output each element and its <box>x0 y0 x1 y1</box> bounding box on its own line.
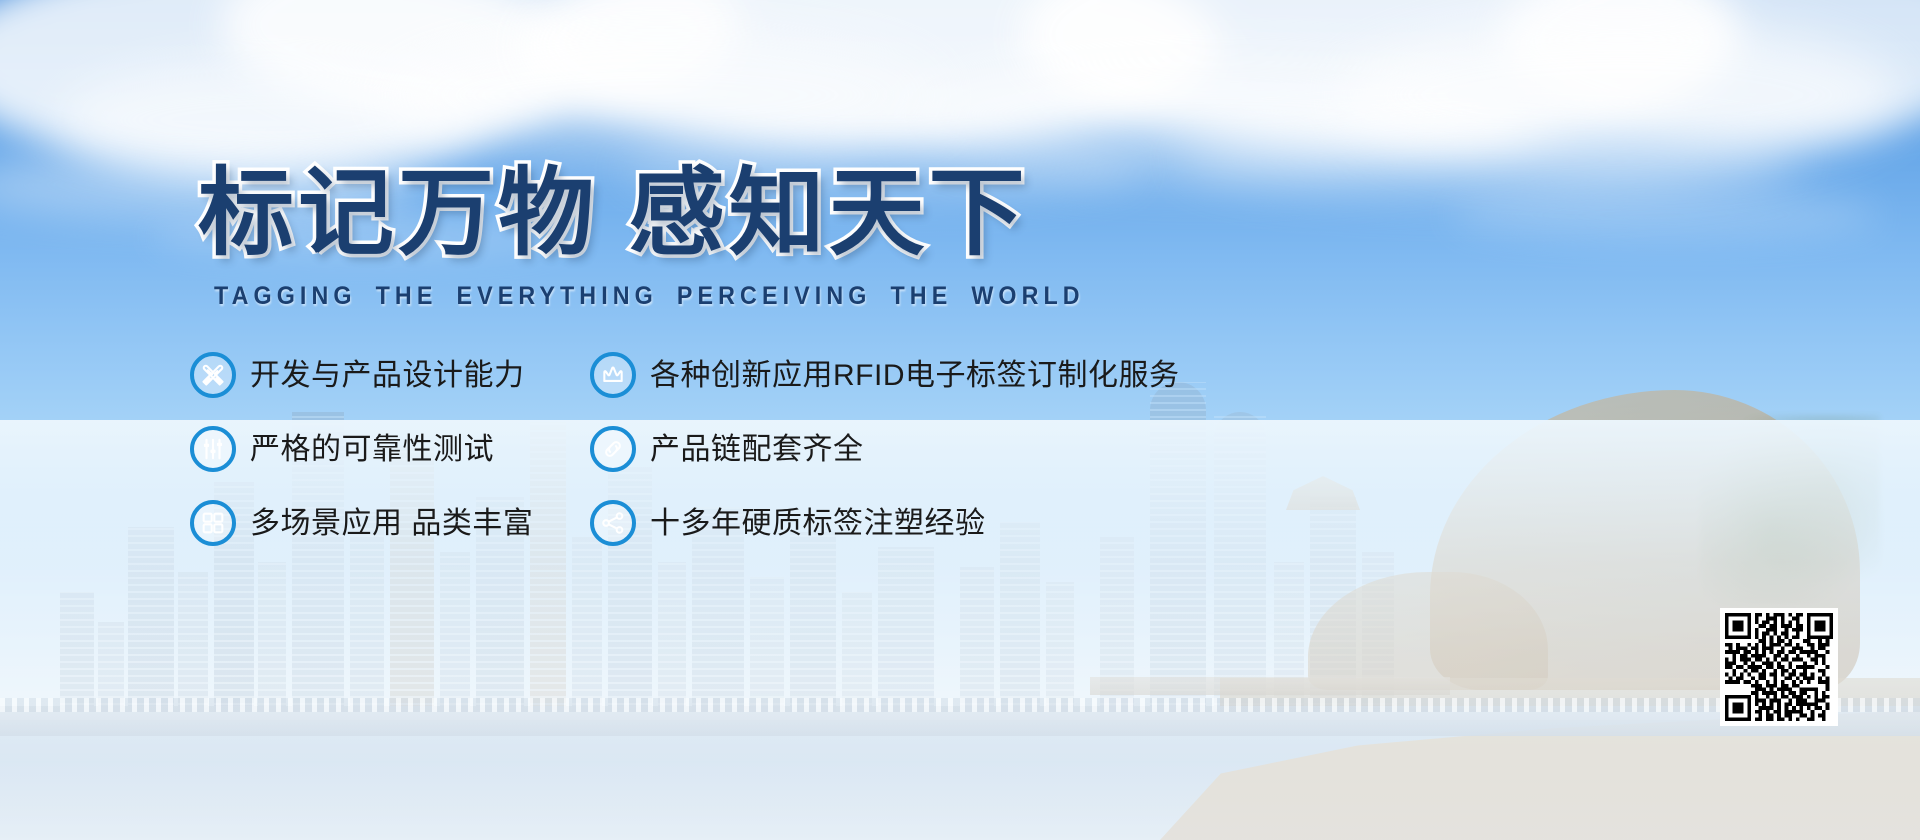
page-title: 标记万物 感知天下 <box>198 166 1029 262</box>
crown-icon <box>590 352 636 398</box>
feature-row: 开发与产品设计能力 各种创新应用RFID电子标签订制化服务 <box>190 352 1290 398</box>
banner-content: 标记万物 感知天下 TAGGING THE EVERYTHING PERCEIV… <box>0 0 1920 840</box>
qr-code[interactable] <box>1720 608 1838 726</box>
feature-item-rfid-service: 各种创新应用RFID电子标签订制化服务 <box>590 352 1290 398</box>
feature-list: 开发与产品设计能力 各种创新应用RFID电子标签订制化服务 <box>190 352 1290 574</box>
feature-row: 严格的可靠性测试 产品链配套齐全 <box>190 426 1290 472</box>
link-chain-icon <box>590 426 636 472</box>
feature-label: 各种创新应用RFID电子标签订制化服务 <box>650 359 1180 392</box>
grid-squares-icon <box>190 500 236 546</box>
feature-item-product-chain: 产品链配套齐全 <box>590 426 1290 472</box>
page-subtitle: TAGGING THE EVERYTHING PERCEIVING THE WO… <box>214 282 1085 311</box>
feature-item-design: 开发与产品设计能力 <box>190 352 590 398</box>
feature-item-scenarios: 多场景应用 品类丰富 <box>190 500 590 546</box>
feature-label: 产品链配套齐全 <box>650 433 864 466</box>
feature-row: 多场景应用 品类丰富 十多年硬质标签注塑经验 <box>190 500 1290 546</box>
feature-item-experience: 十多年硬质标签注塑经验 <box>590 500 1290 546</box>
promo-banner: 标记万物 感知天下 TAGGING THE EVERYTHING PERCEIV… <box>0 0 1920 840</box>
feature-label: 十多年硬质标签注塑经验 <box>650 507 986 540</box>
sliders-icon <box>190 426 236 472</box>
share-nodes-icon <box>590 500 636 546</box>
pencil-ruler-icon <box>190 352 236 398</box>
feature-label: 开发与产品设计能力 <box>250 359 525 392</box>
feature-item-reliability-test: 严格的可靠性测试 <box>190 426 590 472</box>
feature-label: 多场景应用 品类丰富 <box>250 507 533 540</box>
feature-label: 严格的可靠性测试 <box>250 433 494 466</box>
